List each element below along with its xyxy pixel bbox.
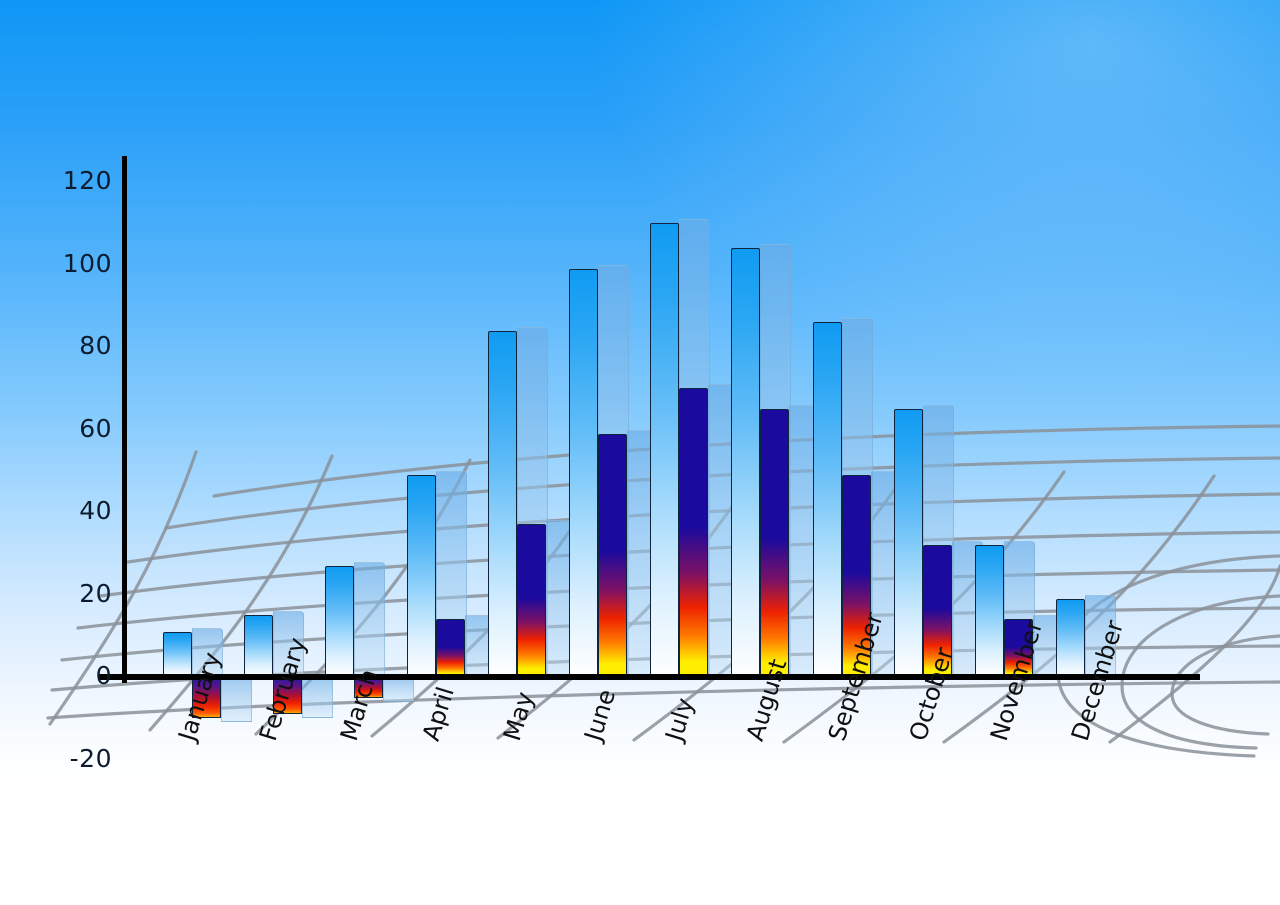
bar-front-face — [894, 409, 923, 677]
y-tick-label-40: 40 — [30, 496, 112, 525]
bar-series2-july[interactable] — [679, 388, 708, 677]
bar-series1-june[interactable] — [569, 269, 598, 677]
bar-series2-april[interactable] — [436, 619, 465, 677]
bar-series2-june[interactable] — [598, 434, 627, 677]
bar-front-face — [325, 566, 354, 677]
y-tick-label-60: 60 — [30, 414, 112, 443]
bar-front-face — [244, 615, 273, 677]
y-tick-label-120: 120 — [30, 166, 112, 195]
bar-series1-october[interactable] — [894, 409, 923, 677]
bar-front-face — [569, 269, 598, 677]
bar-front-face — [517, 524, 546, 677]
y-tick-label-minus20: -20 — [30, 744, 112, 773]
bar-front-face — [975, 545, 1004, 677]
bar-series1-december[interactable] — [1056, 599, 1085, 677]
bar-front-face — [650, 223, 679, 677]
bar-front-face — [598, 434, 627, 677]
bar-front-face — [731, 248, 760, 677]
y-tick-label-80: 80 — [30, 331, 112, 360]
bar-front-face — [760, 409, 789, 677]
bar-front-face — [488, 331, 517, 678]
ghost-bar-series2-january — [221, 677, 252, 722]
bar-front-face — [679, 388, 708, 677]
plot-area — [0, 0, 1280, 905]
bar-front-face — [1056, 599, 1085, 677]
bar-series1-november[interactable] — [975, 545, 1004, 677]
ghost-bar-series2-february — [302, 677, 333, 718]
bar-series1-march[interactable] — [325, 566, 354, 677]
bar-series1-july[interactable] — [650, 223, 679, 677]
y-axis-line — [122, 156, 127, 683]
bar-front-face — [813, 322, 842, 677]
bar-series2-august[interactable] — [760, 409, 789, 677]
bar-series1-february[interactable] — [244, 615, 273, 677]
bar-series1-january[interactable] — [163, 632, 192, 677]
y-tick-label-20: 20 — [30, 579, 112, 608]
bar-series2-may[interactable] — [517, 524, 546, 677]
y-tick-label-100: 100 — [30, 249, 112, 278]
bar-series1-august[interactable] — [731, 248, 760, 677]
bar-front-face — [436, 619, 465, 677]
bar-series1-september[interactable] — [813, 322, 842, 677]
ghost-bar-series1-march — [354, 562, 385, 677]
bar-front-face — [163, 632, 192, 677]
bar-front-face — [407, 475, 436, 677]
y-tick-label-0: 0 — [30, 661, 112, 690]
chart-canvas: 120100806040200-20 JanuaryFebruaryMarchA… — [0, 0, 1280, 905]
x-axis-line — [98, 674, 1200, 680]
ghost-bar-series2-march — [383, 677, 414, 702]
bar-series1-april[interactable] — [407, 475, 436, 677]
bar-series1-may[interactable] — [488, 331, 517, 678]
